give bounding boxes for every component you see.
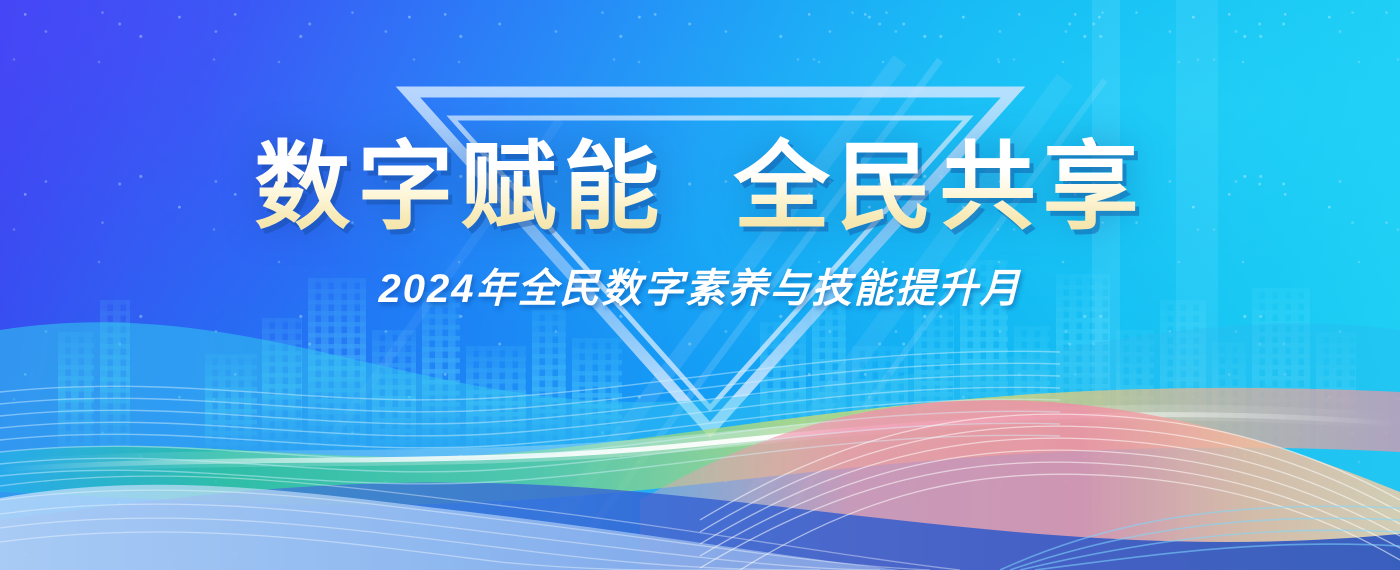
promo-banner: 数字赋能 全民共享 2024年全民数字素养与技能提升月 [0, 0, 1400, 570]
banner-text-block: 数字赋能 全民共享 2024年全民数字素养与技能提升月 [0, 132, 1400, 312]
main-title: 数字赋能 全民共享 [0, 132, 1400, 244]
sub-title: 2024年全民数字素养与技能提升月 [0, 266, 1400, 312]
